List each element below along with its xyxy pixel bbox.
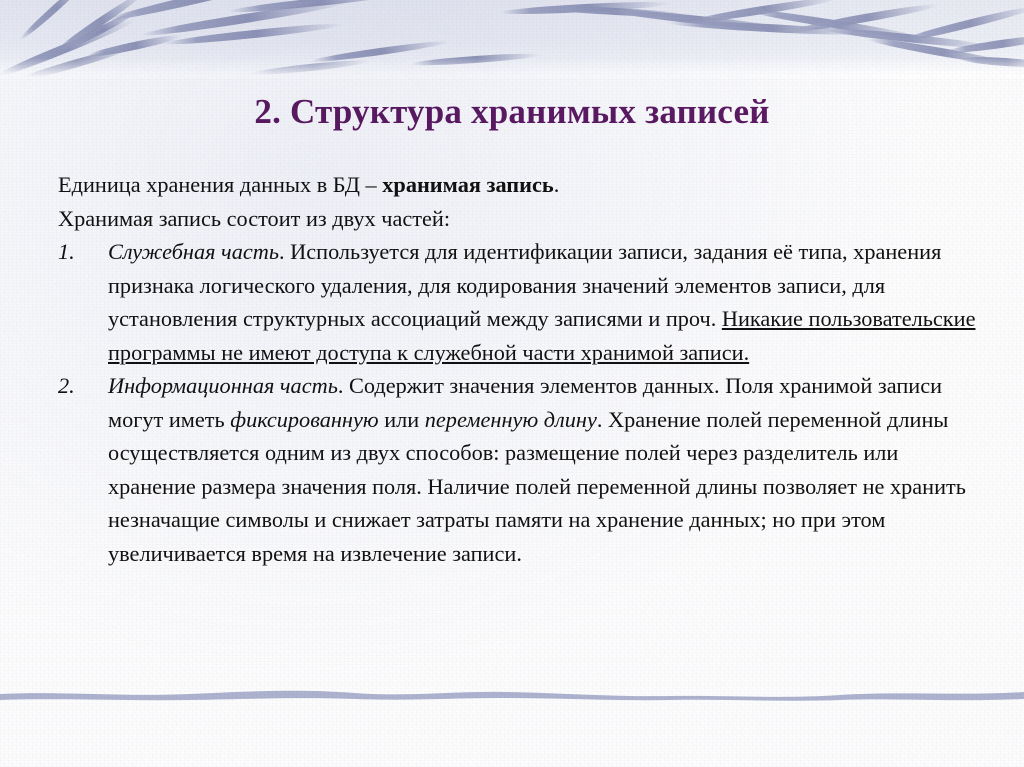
lead-line-1-bold-term: хранимая запись xyxy=(382,172,553,197)
list-item-marker: 2. xyxy=(58,369,92,403)
list-item-marker: 1. xyxy=(58,235,92,269)
bottom-ornament-rule xyxy=(0,688,1024,702)
lead-line-2: Хранимая запись состоит из двух частей: xyxy=(58,202,983,236)
list-item-emphasis-variable: переменную длину xyxy=(425,407,597,432)
slide-canvas: 2. Структура хранимых записей Единица хр… xyxy=(0,0,1024,767)
list-item-term: Информационная часть xyxy=(108,373,338,398)
list-item-emphasis-fixed: фиксированную xyxy=(230,407,378,432)
page-title: 2. Структура хранимых записей xyxy=(0,92,1024,132)
list-item-term: Служебная часть xyxy=(108,239,279,264)
lead-line-1-suffix: . xyxy=(554,172,560,197)
list-item: 2.Информационная часть. Содержит значени… xyxy=(58,369,983,570)
top-ornament-band xyxy=(0,0,1024,78)
list-item-text-part2: или xyxy=(379,407,425,432)
slide-body: Единица хранения данных в БД – хранимая … xyxy=(58,168,983,570)
lead-line-1-prefix: Единица хранения данных в БД – xyxy=(58,172,382,197)
band-fade xyxy=(0,58,1024,78)
parts-list: 1.Служебная часть. Используется для иден… xyxy=(58,235,983,570)
list-item: 1.Служебная часть. Используется для иден… xyxy=(58,235,983,369)
lead-line-1: Единица хранения данных в БД – хранимая … xyxy=(58,168,983,202)
